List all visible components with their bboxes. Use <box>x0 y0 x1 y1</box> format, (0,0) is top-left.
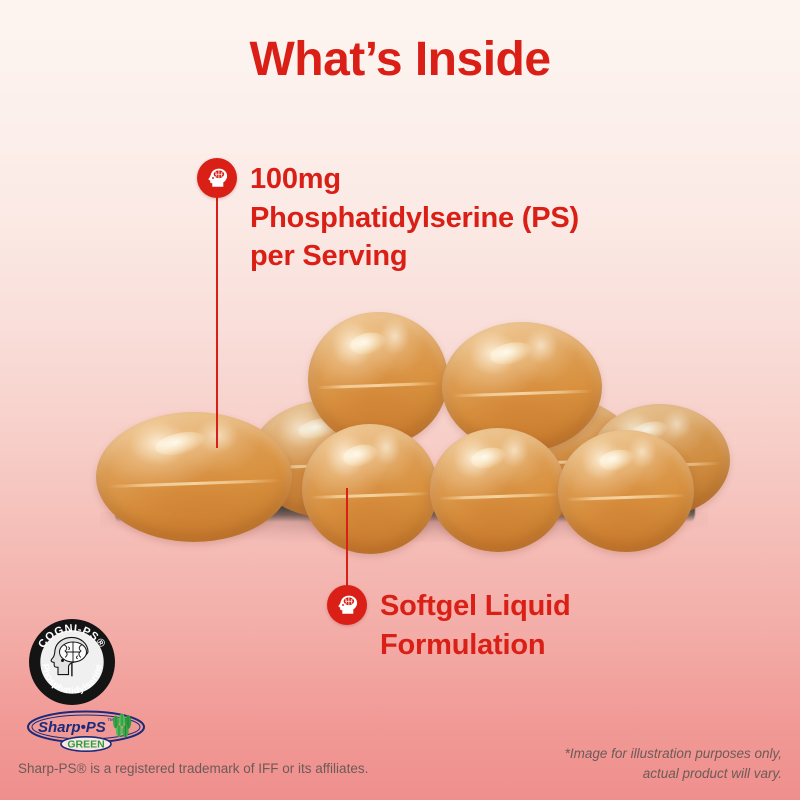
softgel-capsule <box>558 430 694 552</box>
svg-text:™: ™ <box>107 718 114 725</box>
brain-head-icon-badge-ps-dose <box>197 158 237 198</box>
callout-leader-line-ps-dose <box>216 196 218 448</box>
sharp-ps-green-logo: Sharp•PS ™ GREEN <box>26 708 146 752</box>
cogni-ps-logo: COGNI-PS® Phosphatidylserine <box>28 618 116 706</box>
trademark-footnote: Sharp-PS® is a registered trademark of I… <box>18 761 368 776</box>
brain-head-icon-badge-softgel-form <box>327 585 367 625</box>
softgel-capsule <box>430 428 566 552</box>
product-image <box>90 300 710 550</box>
callout-leader-line-softgel-form <box>346 488 348 600</box>
product-infographic: What’s Inside 100mg Phosphatidylserine (… <box>0 0 800 800</box>
illustration-disclaimer: *Image for illustration purposes only, a… <box>565 744 782 783</box>
softgel-capsule <box>302 424 438 554</box>
brain-head-icon <box>334 592 360 618</box>
page-title: What’s Inside <box>0 32 800 87</box>
callout-text-ps-dose: 100mg Phosphatidylserine (PS) per Servin… <box>250 160 720 276</box>
softgel-capsule <box>96 412 292 542</box>
callout-text-softgel-form: Softgel Liquid Formulation <box>380 587 720 664</box>
brain-head-icon <box>204 165 230 191</box>
svg-text:GREEN: GREEN <box>67 738 104 750</box>
leaf-cluster-icon <box>113 714 131 738</box>
svg-text:Sharp•PS: Sharp•PS <box>38 719 106 736</box>
